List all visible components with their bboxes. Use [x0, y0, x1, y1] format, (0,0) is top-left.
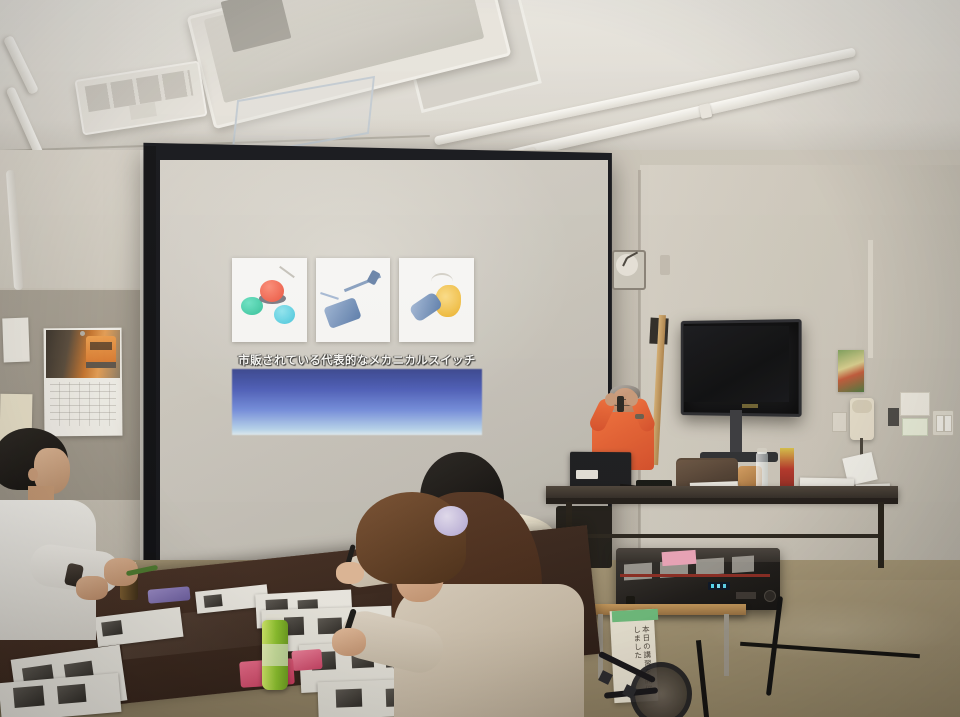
slide-panel-pin-switch	[399, 258, 474, 342]
slide-image-row	[232, 258, 474, 342]
lever-stick	[320, 292, 339, 300]
presenter-right-hand	[626, 392, 638, 406]
light-switch-toggle[interactable]	[944, 415, 952, 432]
calendar-grid	[50, 382, 116, 426]
participant-man-left-ear	[28, 468, 38, 481]
green-wall-poster	[838, 350, 864, 392]
presenter-table-rail	[566, 534, 884, 538]
led-indicator	[723, 584, 726, 588]
telephone-handset-icon[interactable]	[852, 400, 872, 413]
light-switch-toggle[interactable]	[936, 415, 944, 432]
tv-screen	[684, 326, 789, 402]
cyan-switch-icon	[274, 305, 295, 323]
led-indicator	[717, 584, 720, 588]
pink-pencil-case	[291, 649, 322, 671]
handout-image	[101, 620, 123, 636]
slide-gradient-band	[232, 369, 482, 435]
water-bottle	[756, 452, 768, 490]
led-indicator	[711, 584, 714, 588]
pink-sticky-note	[662, 550, 697, 566]
calendar-hanger-hole	[80, 331, 85, 336]
participant-woman-front-hand	[332, 628, 366, 656]
handout-image	[13, 685, 45, 708]
red-switch-icon	[260, 280, 284, 302]
handout-image	[204, 594, 223, 608]
slide-panel-lever-switch	[316, 258, 391, 342]
wall-plate	[832, 412, 847, 432]
tram-window	[90, 342, 112, 350]
tv-logo	[742, 404, 758, 408]
handout-image	[336, 689, 363, 708]
seminar-room-photo: 市販されている代表的なメカニカルスイッチ	[0, 0, 960, 717]
dark-wall-plate	[888, 408, 899, 426]
wall-notice	[900, 392, 930, 416]
lever-switch-icon	[323, 297, 361, 329]
switch-wire	[279, 266, 295, 278]
presenter-left-hand	[605, 393, 617, 406]
table-leg	[878, 502, 884, 568]
demo-switch-device	[617, 396, 624, 412]
tv-stand-column	[730, 410, 742, 458]
wall-sensor	[660, 255, 670, 275]
participant-man-left-hand	[76, 576, 108, 600]
hair-scrunchie	[434, 506, 468, 536]
slide-panel-colored-switches	[232, 258, 307, 342]
posted-notice	[2, 318, 30, 363]
projector-knob[interactable]	[764, 590, 776, 602]
left-wall-upper	[0, 150, 150, 292]
projector-accent-stripe	[620, 574, 770, 577]
bottle-label	[262, 644, 288, 666]
wall-conduit	[868, 240, 873, 358]
presenter-table-edge	[546, 498, 898, 504]
presenter-wristwatch	[635, 414, 644, 419]
stand-leg	[724, 614, 729, 676]
wall-notice	[902, 418, 928, 436]
tram-icon	[86, 336, 116, 368]
red-box-item	[780, 448, 794, 490]
handout-image	[57, 684, 86, 704]
light-switch-plate[interactable]	[932, 410, 954, 436]
projector-port	[736, 592, 756, 599]
laptop-label	[576, 470, 598, 479]
projection-screen-left-border	[144, 146, 156, 598]
slide-caption: 市販されている代表的なメカニカルスイッチ	[232, 352, 482, 368]
